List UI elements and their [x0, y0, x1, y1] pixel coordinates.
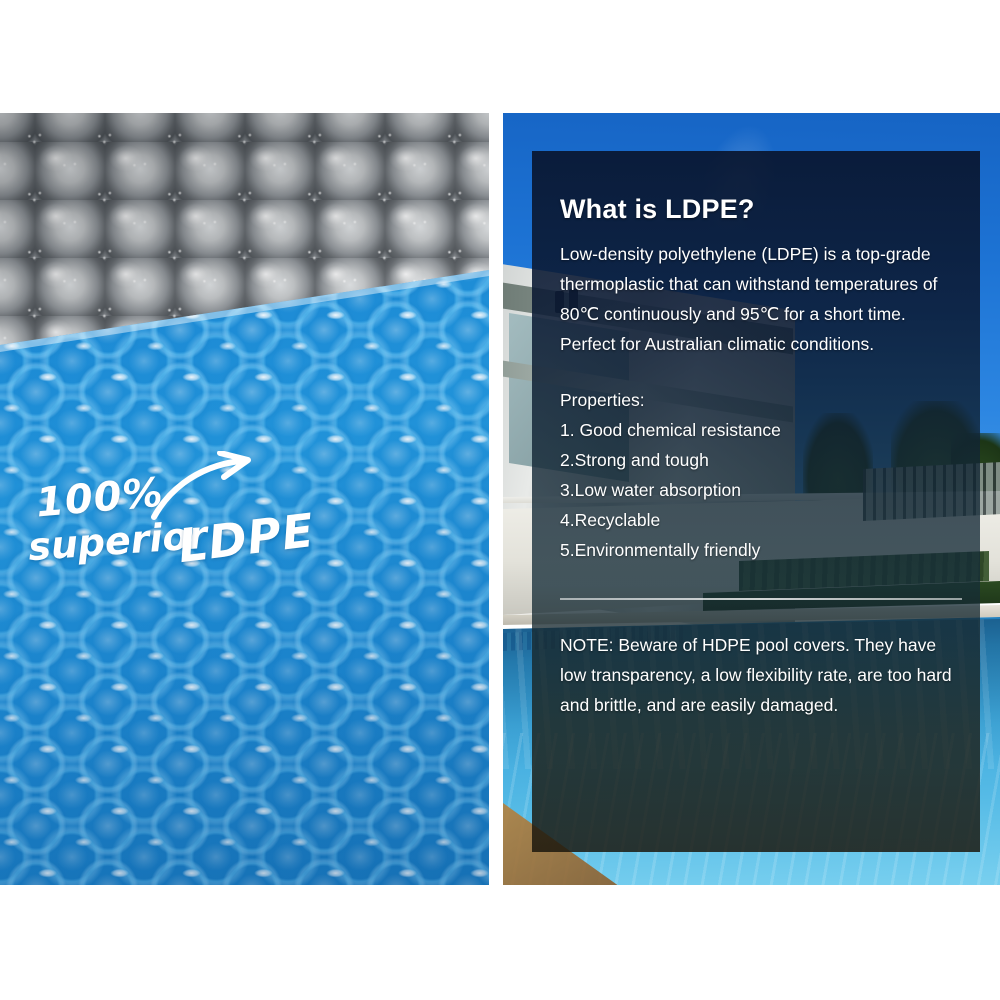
list-item: 5.Environmentally friendly — [560, 535, 964, 565]
page-title: What is LDPE? — [560, 194, 964, 225]
product-infographic: 100% superior LDPE — [0, 0, 1000, 1000]
info-overlay-content: What is LDPE? Low-density polyethylene (… — [560, 151, 964, 852]
list-item: 4.Recyclable — [560, 505, 964, 535]
handwritten-callout: 100% superior LDPE — [0, 343, 489, 583]
intro-paragraph: Low-density polyethylene (LDPE) is a top… — [560, 239, 964, 359]
properties-list: 1. Good chemical resistance 2.Strong and… — [560, 415, 964, 565]
left-image-panel: 100% superior LDPE — [0, 113, 489, 885]
info-overlay-box: What is LDPE? Low-density polyethylene (… — [532, 151, 980, 852]
curved-arrow-icon — [148, 451, 268, 523]
list-item: 2.Strong and tough — [560, 445, 964, 475]
right-image-panel: What is LDPE? Low-density polyethylene (… — [503, 113, 1000, 885]
note-paragraph: NOTE: Beware of HDPE pool covers. They h… — [560, 630, 964, 720]
properties-label: Properties: — [560, 385, 964, 415]
section-divider — [560, 598, 962, 600]
list-item: 3.Low water absorption — [560, 475, 964, 505]
list-item: 1. Good chemical resistance — [560, 415, 964, 445]
